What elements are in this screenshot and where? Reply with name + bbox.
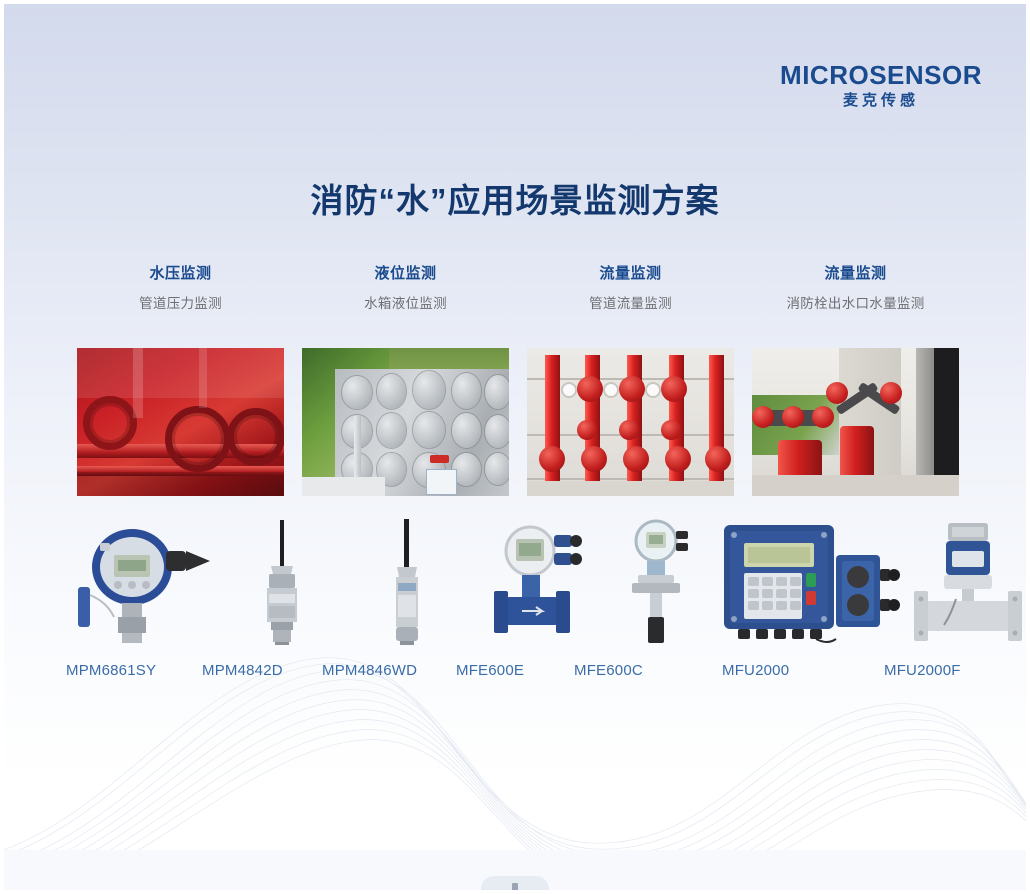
photo-cell-4 [743,348,968,496]
product-label-7: MFU2000F [884,662,961,679]
slide-canvas: MICROSENSOR 麦克传感 消防“水”应用场景监测方案 水压监测 管道压力… [4,4,1026,890]
product-image-mpm6861sy [70,525,220,650]
product-label-5: MFE600C [574,662,643,679]
page-title: 消防“水”应用场景监测方案 [4,174,1026,222]
scenario-column-1: 水压监测 管道压力监测 [68,262,293,312]
scenario-heading-row: 水压监测 管道压力监测 液位监测 水箱液位监测 流量监测 管道流量监测 流量监测… [68,262,968,312]
photo-cell-2 [293,348,518,496]
bottom-indicator[interactable] [481,876,549,890]
scenario-heading: 流量监测 [518,262,743,283]
scenario-heading: 流量监测 [743,262,968,283]
product-label-1: MPM6861SY [66,662,156,679]
product-image-mfe600e [484,525,594,650]
scenario-heading: 水压监测 [68,262,293,283]
scenario-column-4: 流量监测 消防栓出水口水量监测 [743,262,968,312]
product-image-mfu2000f [904,521,1026,650]
scenario-subtitle: 管道流量监测 [518,292,743,312]
scenario-subtitle: 消防栓出水口水量监测 [743,292,968,312]
product-image-mfe600c [620,519,704,650]
product-image-mfu2000 [720,519,838,650]
slide-page: MICROSENSOR 麦克传感 消防“水”应用场景监测方案 水压监测 管道压力… [0,0,1030,894]
scenario-column-2: 液位监测 水箱液位监测 [293,262,518,312]
product-image-mpm4846wd [377,519,437,650]
scenario-subtitle: 管道压力监测 [68,292,293,312]
brand-logo: MICROSENSOR 麦克传感 [780,62,982,108]
photo-fire-pipe-valves [77,348,284,496]
scenario-photo-row [68,348,968,496]
photo-stainless-water-tank [302,348,509,496]
scenario-column-3: 流量监测 管道流量监测 [518,262,743,312]
brand-logo-name: MICROSENSOR [780,62,982,88]
product-label-4: MFE600E [456,662,524,679]
photo-fire-risers [527,348,734,496]
product-image-row [44,526,992,656]
product-image-mpm4842d [249,520,315,650]
product-image-mfu2000-transducer [834,549,900,638]
photo-cell-3 [518,348,743,496]
photo-fire-hydrants [752,348,959,496]
product-label-3: MPM4846WD [322,662,417,679]
scenario-subtitle: 水箱液位监测 [293,292,518,312]
product-label-row: MPM6861SY MPM4842D MPM4846WD MFE600E MFE… [44,662,992,688]
scenario-heading: 液位监测 [293,262,518,283]
photo-cell-1 [68,348,293,496]
brand-logo-chinese: 麦克传感 [780,93,982,108]
product-label-2: MPM4842D [202,662,283,679]
product-label-6: MFU2000 [722,662,789,679]
